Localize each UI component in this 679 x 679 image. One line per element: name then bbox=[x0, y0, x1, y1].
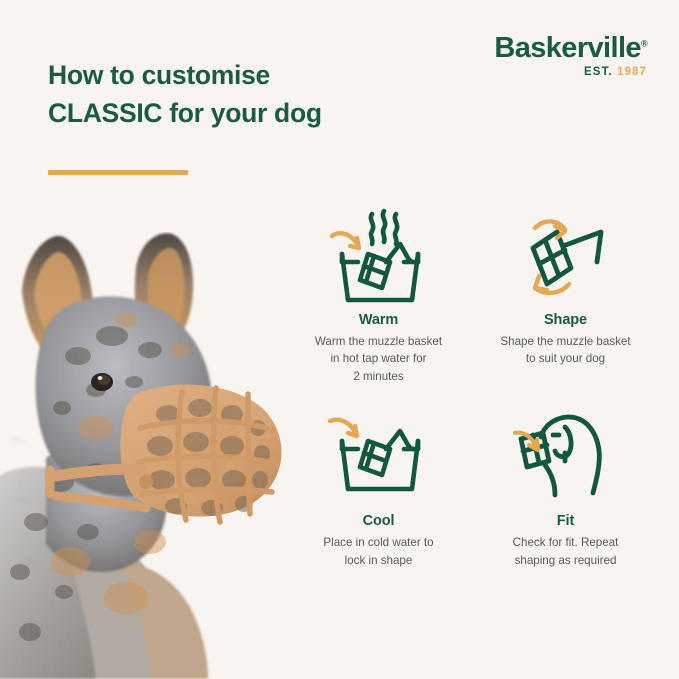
infographic-page: How to customise CLASSIC for your dog Ba… bbox=[0, 0, 679, 679]
step-cool: Cool Place in cold water to lock in shap… bbox=[288, 407, 469, 569]
step-shape: Shape Shape the muzzle basket to suit yo… bbox=[475, 206, 656, 385]
step-warm-title: Warm bbox=[292, 312, 465, 328]
logo-est-label: EST. bbox=[584, 66, 613, 78]
step-shape-title: Shape bbox=[479, 312, 652, 328]
step-warm-icon-wrap bbox=[292, 206, 465, 306]
page-heading-block: How to customise CLASSIC for your dog bbox=[48, 57, 322, 132]
step-fit-icon-wrap bbox=[479, 407, 652, 507]
logo-wordmark-text: Baskerville bbox=[494, 32, 641, 64]
brand-logo: Baskerville® EST. 1987 bbox=[494, 34, 647, 79]
logo-established: EST. 1987 bbox=[494, 67, 647, 79]
step-cool-title: Cool bbox=[292, 513, 465, 529]
step-fit-title: Fit bbox=[479, 513, 652, 529]
step-warm-description: Warm the muzzle basket in hot tap water … bbox=[292, 333, 465, 385]
registered-trademark-icon: ® bbox=[641, 38, 647, 48]
dog-photo-illustration bbox=[0, 232, 290, 679]
logo-wordmark: Baskerville® bbox=[494, 34, 647, 63]
muzzle-shape-arrows-icon bbox=[513, 206, 619, 306]
step-fit-description: Check for fit. Repeat shaping as require… bbox=[479, 534, 652, 569]
step-shape-icon-wrap bbox=[479, 206, 652, 306]
basin-cold-muzzle-icon bbox=[326, 407, 432, 507]
logo-est-year: 1987 bbox=[617, 66, 647, 78]
dog-head-muzzle-icon bbox=[513, 407, 619, 507]
step-shape-description: Shape the muzzle basket to suit your dog bbox=[479, 333, 652, 368]
steps-grid: Warm Warm the muzzle basket in hot tap w… bbox=[288, 206, 656, 569]
step-warm: Warm Warm the muzzle basket in hot tap w… bbox=[288, 206, 469, 385]
step-cool-icon-wrap bbox=[292, 407, 465, 507]
step-cool-description: Place in cold water to lock in shape bbox=[292, 534, 465, 569]
step-fit: Fit Check for fit. Repeat shaping as req… bbox=[475, 407, 656, 569]
basin-steam-muzzle-icon bbox=[326, 206, 432, 306]
dog-photo bbox=[0, 232, 290, 679]
heading-divider bbox=[48, 170, 188, 175]
page-title: How to customise CLASSIC for your dog bbox=[48, 57, 322, 132]
